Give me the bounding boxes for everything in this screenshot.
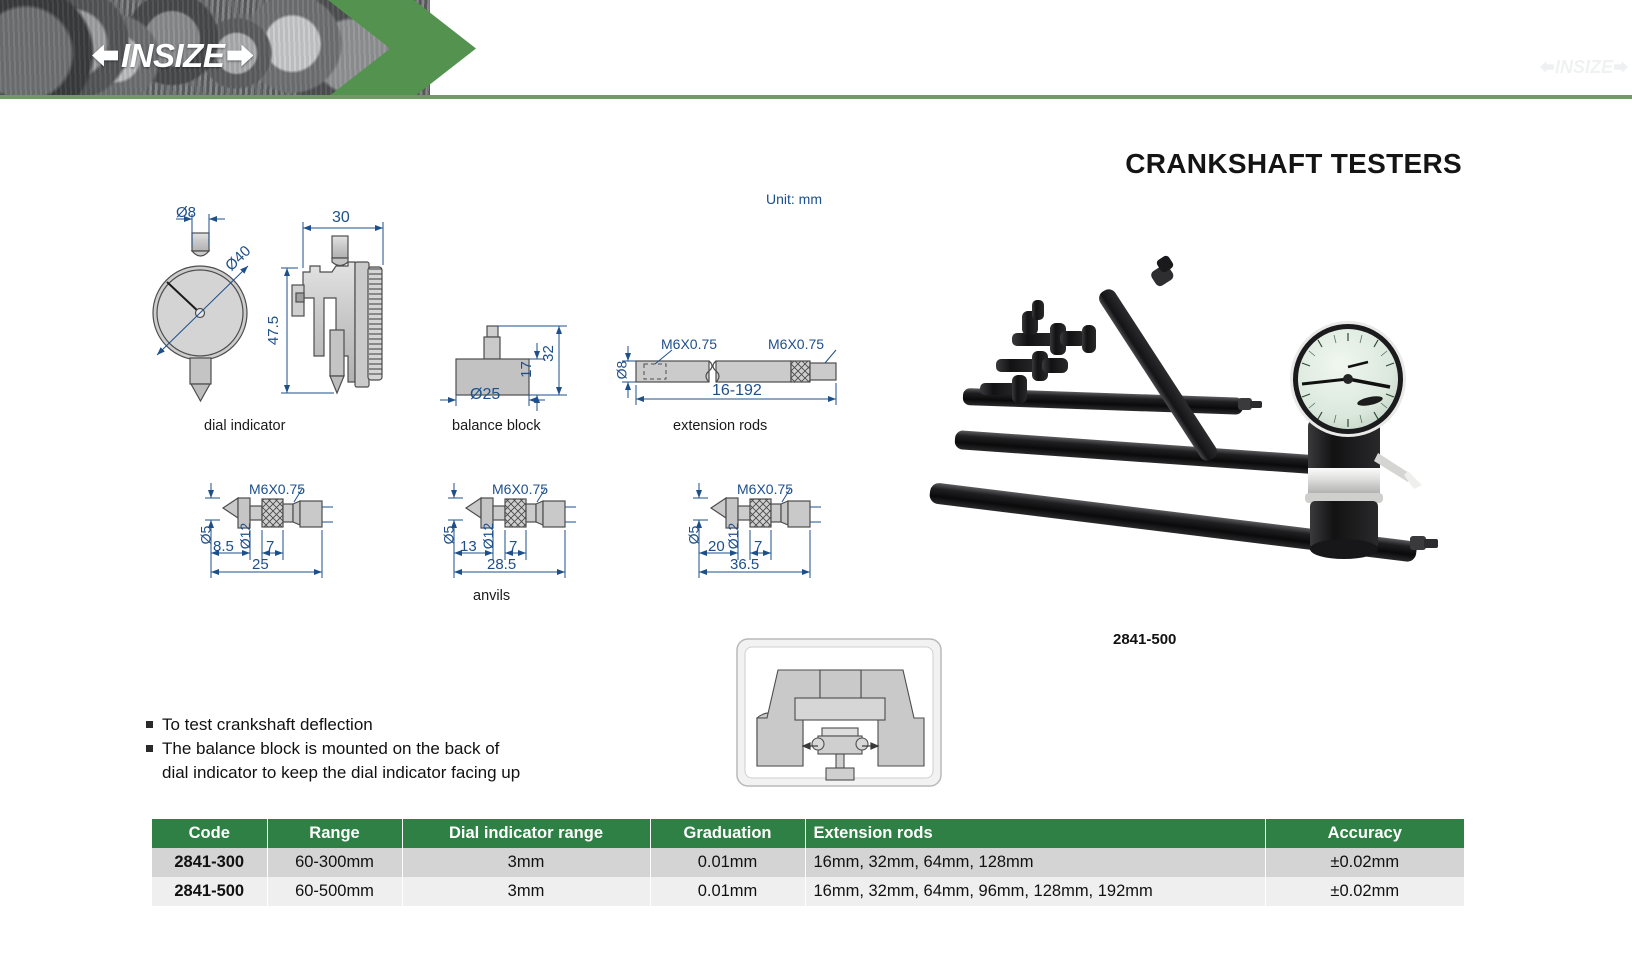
dim-anvil1-total: 25 xyxy=(252,556,269,573)
cell-extension-rods: 16mm, 32mm, 64mm, 96mm, 128mm, 192mm xyxy=(805,877,1265,906)
header-divider xyxy=(0,95,1632,99)
caption-balance-block: balance block xyxy=(452,418,541,434)
arrow-left-icon xyxy=(92,45,118,67)
cell-code: 2841-500 xyxy=(152,877,267,906)
cell-range: 60-500mm xyxy=(267,877,402,906)
cell-dial-indicator-range: 3mm xyxy=(402,877,650,906)
arrow-right-icon xyxy=(1614,61,1628,73)
cell-graduation: 0.01mm xyxy=(650,848,805,877)
table-row: 2841-500 60-500mm 3mm 0.01mm 16mm, 32mm,… xyxy=(152,877,1464,906)
feature-text: dial indicator to keep the dial indicato… xyxy=(162,761,520,784)
dim-dial-depth: 30 xyxy=(332,209,350,227)
dim-anvil3-total: 36.5 xyxy=(730,556,759,573)
dim-anvil2-seg1: 13 xyxy=(460,538,477,555)
list-item-continuation: dial indicator to keep the dial indicato… xyxy=(146,761,616,784)
cell-graduation: 0.01mm xyxy=(650,877,805,906)
dim-rod-length: 16-192 xyxy=(712,382,762,400)
arrow-left-icon xyxy=(1540,61,1554,73)
caption-dial-indicator: dial indicator xyxy=(204,418,285,434)
column-header-accuracy: Accuracy xyxy=(1265,819,1464,848)
product-code-caption: 2841-500 xyxy=(1113,631,1176,648)
caption-extension-rods: extension rods xyxy=(673,418,767,434)
cell-accuracy: ±0.02mm xyxy=(1265,848,1464,877)
page-title: CRANKSHAFT TESTERS xyxy=(1125,148,1462,180)
feature-list: To test crankshaft deflection The balanc… xyxy=(146,713,616,785)
dim-rod-thread-right: M6X0.75 xyxy=(768,336,824,352)
column-header-code: Code xyxy=(152,819,267,848)
dim-anvil3-seg2: 7 xyxy=(754,538,762,555)
arrow-right-icon xyxy=(227,45,253,67)
cell-range: 60-300mm xyxy=(267,848,402,877)
dim-anvil1-tip-dia: Ø5 xyxy=(197,526,213,545)
unit-label: Unit: mm xyxy=(766,191,822,207)
dim-anvil3-body-dia: Ø12 xyxy=(725,523,741,549)
page-header: INSIZE INSIZE xyxy=(0,0,1632,97)
cell-code: 2841-300 xyxy=(152,848,267,877)
column-header-graduation: Graduation xyxy=(650,819,805,848)
dim-anvil2-thread: M6X0.75 xyxy=(492,481,548,497)
dim-anvil3-tip-dia: Ø5 xyxy=(685,526,701,545)
table-header-row: Code Range Dial indicator range Graduati… xyxy=(152,819,1464,848)
caption-anvils: anvils xyxy=(473,588,510,604)
dim-anvil1-seg1: 8.5 xyxy=(213,538,234,555)
dim-anvil3-thread: M6X0.75 xyxy=(737,481,793,497)
bullet-square-icon xyxy=(146,745,153,752)
specification-table: Code Range Dial indicator range Graduati… xyxy=(152,819,1464,906)
dim-anvil3-seg1: 20 xyxy=(708,538,725,555)
insize-logo: INSIZE xyxy=(92,39,253,72)
insize-logo-text: INSIZE xyxy=(120,39,225,72)
dim-dial-face: Ø40 xyxy=(222,243,254,275)
dim-rod-thread-left: M6X0.75 xyxy=(661,336,717,352)
dim-anvil2-tip-dia: Ø5 xyxy=(440,526,456,545)
dim-block-diameter: Ø25 xyxy=(470,386,500,404)
dim-anvil2-seg2: 7 xyxy=(509,538,517,555)
product-photo xyxy=(900,255,1480,655)
dim-anvil2-total: 28.5 xyxy=(487,556,516,573)
dim-dial-height: 47.5 xyxy=(265,316,282,345)
cell-dial-indicator-range: 3mm xyxy=(402,848,650,877)
list-item: To test crankshaft deflection xyxy=(146,713,616,736)
cell-accuracy: ±0.02mm xyxy=(1265,877,1464,906)
column-header-extension-rods: Extension rods xyxy=(805,819,1265,848)
bullet-square-icon xyxy=(146,721,153,728)
table-row: 2841-300 60-300mm 3mm 0.01mm 16mm, 32mm,… xyxy=(152,848,1464,877)
dim-anvil1-seg2: 7 xyxy=(266,538,274,555)
dim-block-total-height: 32 xyxy=(540,345,557,362)
insize-watermark-text: INSIZE xyxy=(1555,58,1613,76)
column-header-range: Range xyxy=(267,819,402,848)
dim-anvil2-body-dia: Ø12 xyxy=(480,523,496,549)
column-header-dial-indicator-range: Dial indicator range xyxy=(402,819,650,848)
dim-anvil1-thread: M6X0.75 xyxy=(249,481,305,497)
dim-rod-diameter: Ø8 xyxy=(613,361,629,380)
dim-anvil1-body-dia: Ø12 xyxy=(237,523,253,549)
cell-extension-rods: 16mm, 32mm, 64mm, 128mm xyxy=(805,848,1265,877)
feature-text: The balance block is mounted on the back… xyxy=(162,737,499,760)
dim-block-body-height: 17 xyxy=(518,361,535,378)
feature-text: To test crankshaft deflection xyxy=(162,713,373,736)
insize-watermark: INSIZE xyxy=(1540,58,1628,76)
dim-dial-bore: Ø8 xyxy=(176,204,196,221)
list-item: The balance block is mounted on the back… xyxy=(146,737,616,760)
